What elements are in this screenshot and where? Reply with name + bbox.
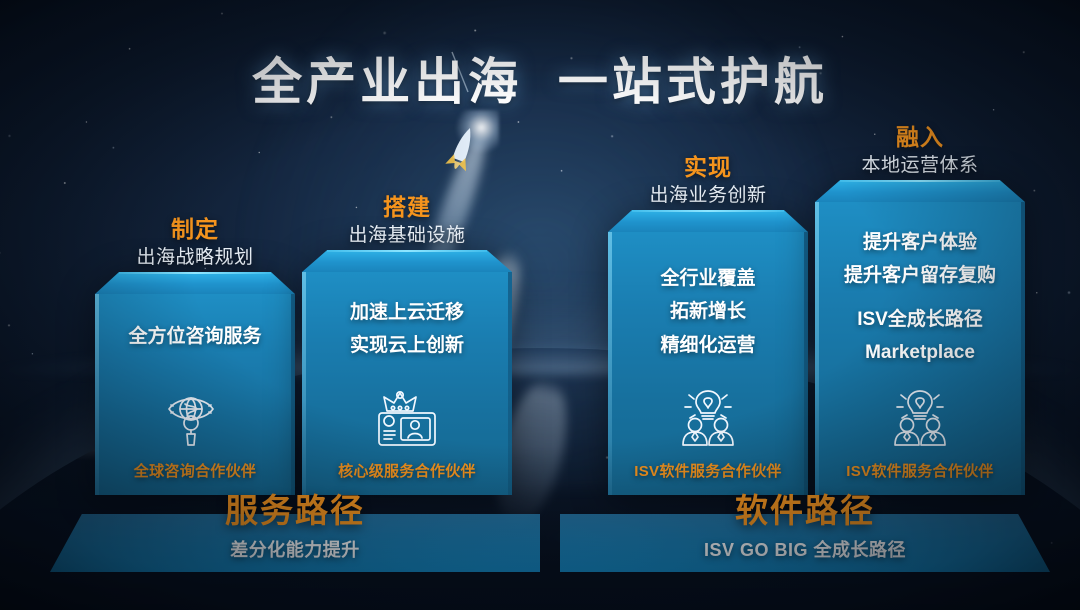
slide-canvas: 全产业出海 一站式护航 制定 出海战略规划 全方位咨询服务	[0, 0, 1080, 610]
vignette-overlay	[0, 0, 1080, 610]
